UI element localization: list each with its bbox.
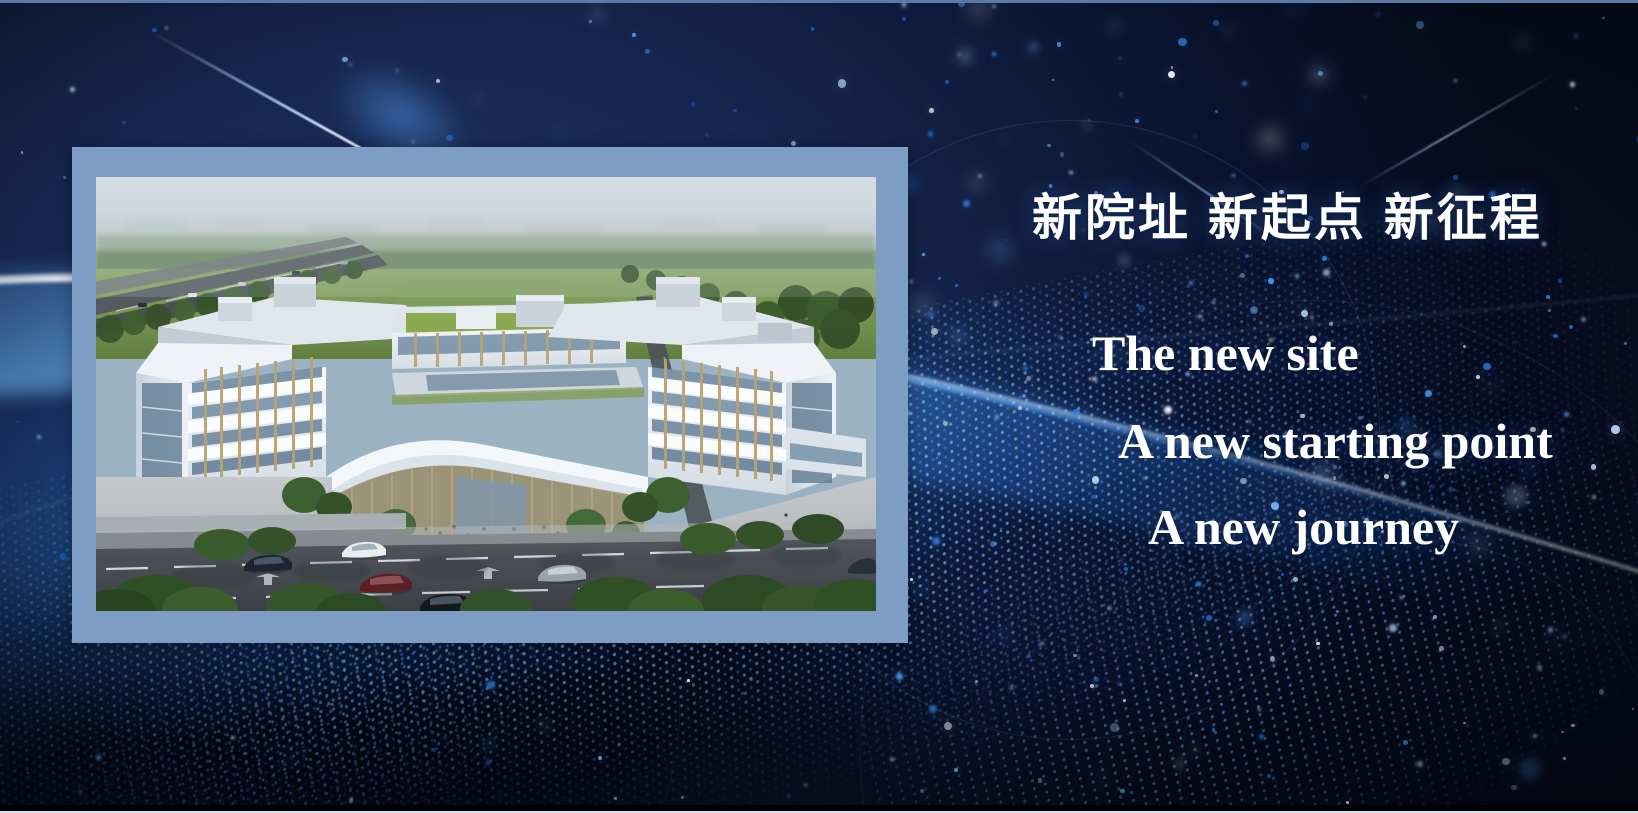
- photo-illustration: [96, 177, 876, 611]
- photo-frame: [72, 147, 908, 643]
- hospital-rendering-photo: [96, 177, 876, 611]
- headline-line-1: The new site: [1092, 324, 1359, 382]
- banner-stage: 新院址 新起点 新征程 The new site A new starting …: [0, 0, 1638, 813]
- page-title-chinese: 新院址 新起点 新征程: [1032, 178, 1543, 250]
- headline-line-2: A new starting point: [1118, 412, 1553, 470]
- headline-line-3: A new journey: [1148, 498, 1459, 556]
- top-edge-strip: [0, 0, 1638, 3]
